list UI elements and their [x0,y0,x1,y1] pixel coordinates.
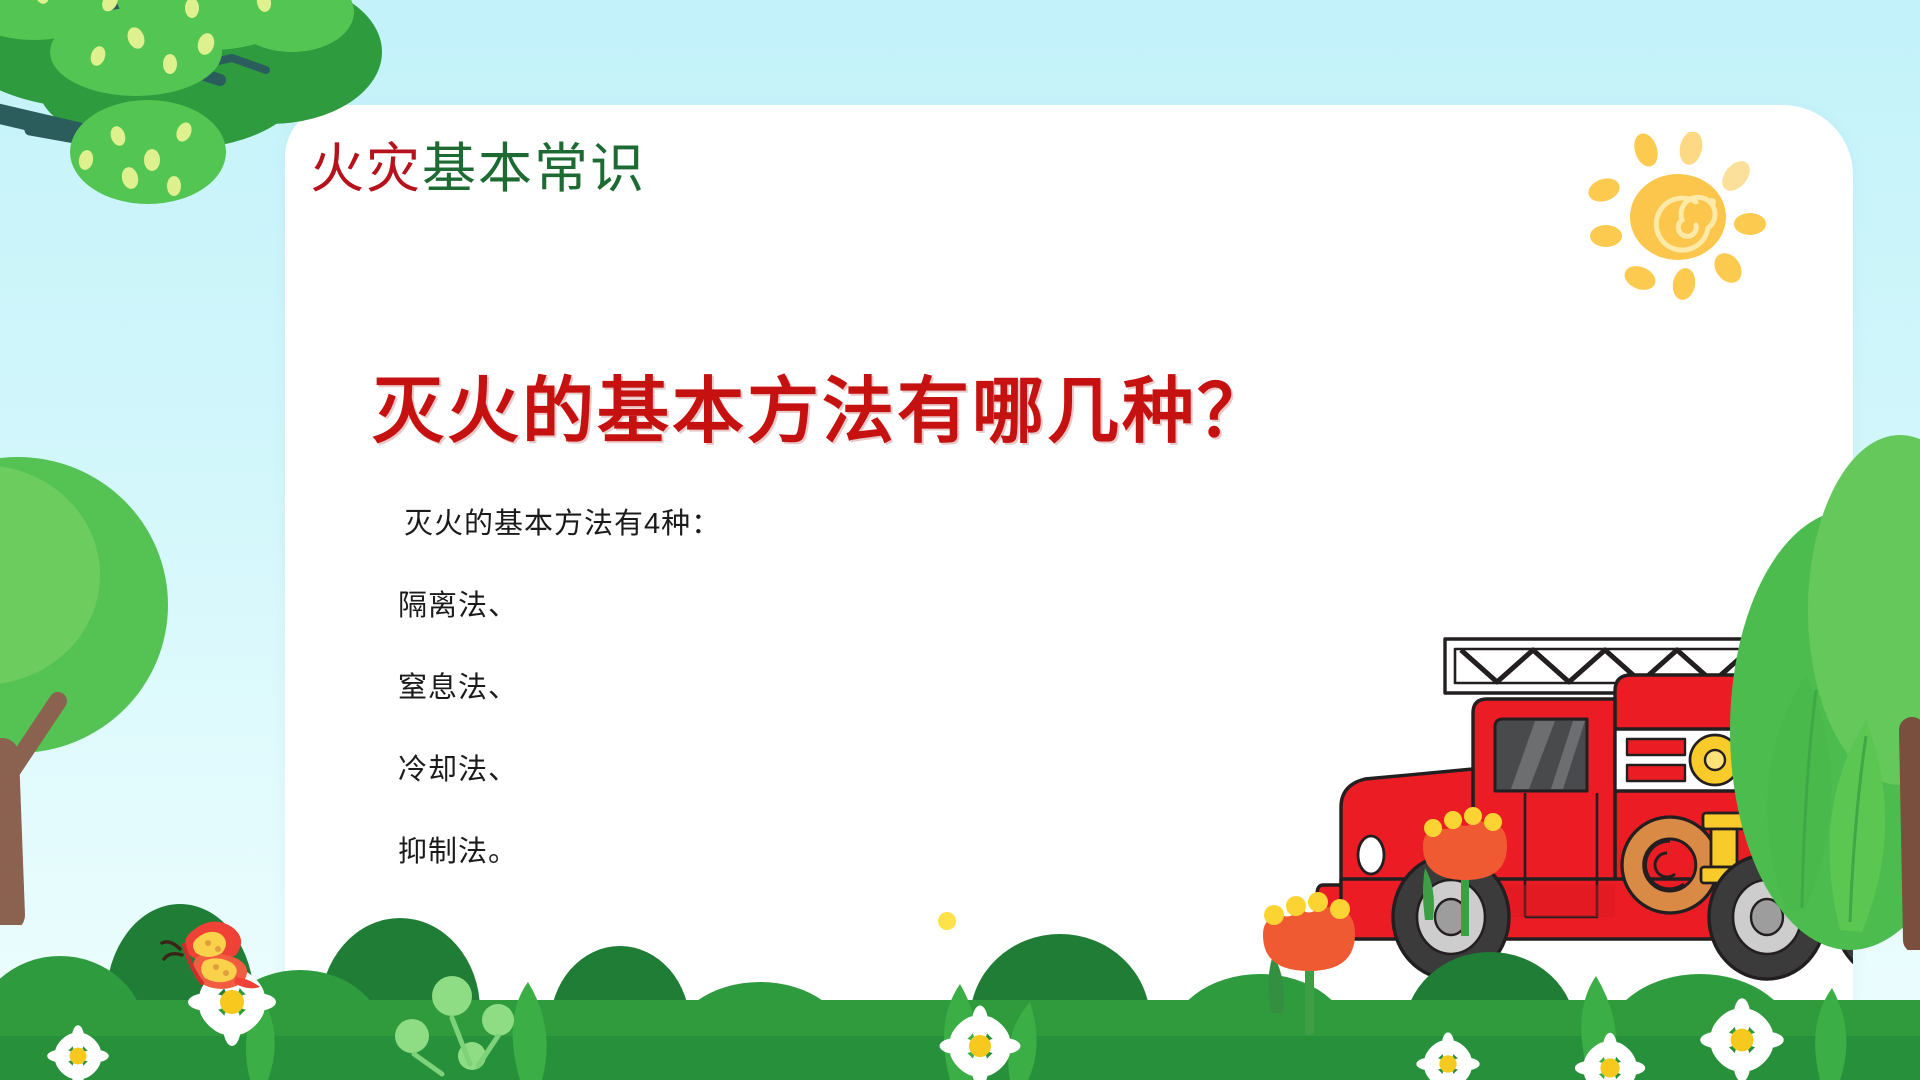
main-heading: 灭火的基本方法有哪几种？ [372,352,1272,457]
tree-decoration [0,455,220,925]
floating-dot [1163,1008,1183,1025]
truck-label: FIRE DEPT [1795,743,1853,781]
body-line: 抑制法。 [398,838,958,867]
wheel [1709,855,1825,979]
page-title-green: 基本常识 [422,139,646,199]
fire-truck-illustration: FIRE DEPT [1315,617,1853,997]
floating-dot [938,912,956,930]
slide-canvas: FIRE DEPT [0,0,1920,1080]
fire-truck-svg: FIRE DEPT [1315,617,1853,997]
body-text-block: 灭火的基本方法有4种： 隔离法、 窒息法、 冷却法、 抑制法。 [398,510,958,867]
sun-icon [1578,132,1778,302]
body-line: 冷却法、 [398,756,958,785]
wheel [1393,855,1509,979]
butterfly-decoration [152,905,272,1005]
body-line: 隔离法、 [398,592,958,621]
body-line: 灭火的基本方法有4种： [404,510,958,539]
page-title: 火灾基本常识 [310,142,646,196]
body-line: 窒息法、 [398,674,958,703]
page-title-red: 火灾 [310,139,422,199]
